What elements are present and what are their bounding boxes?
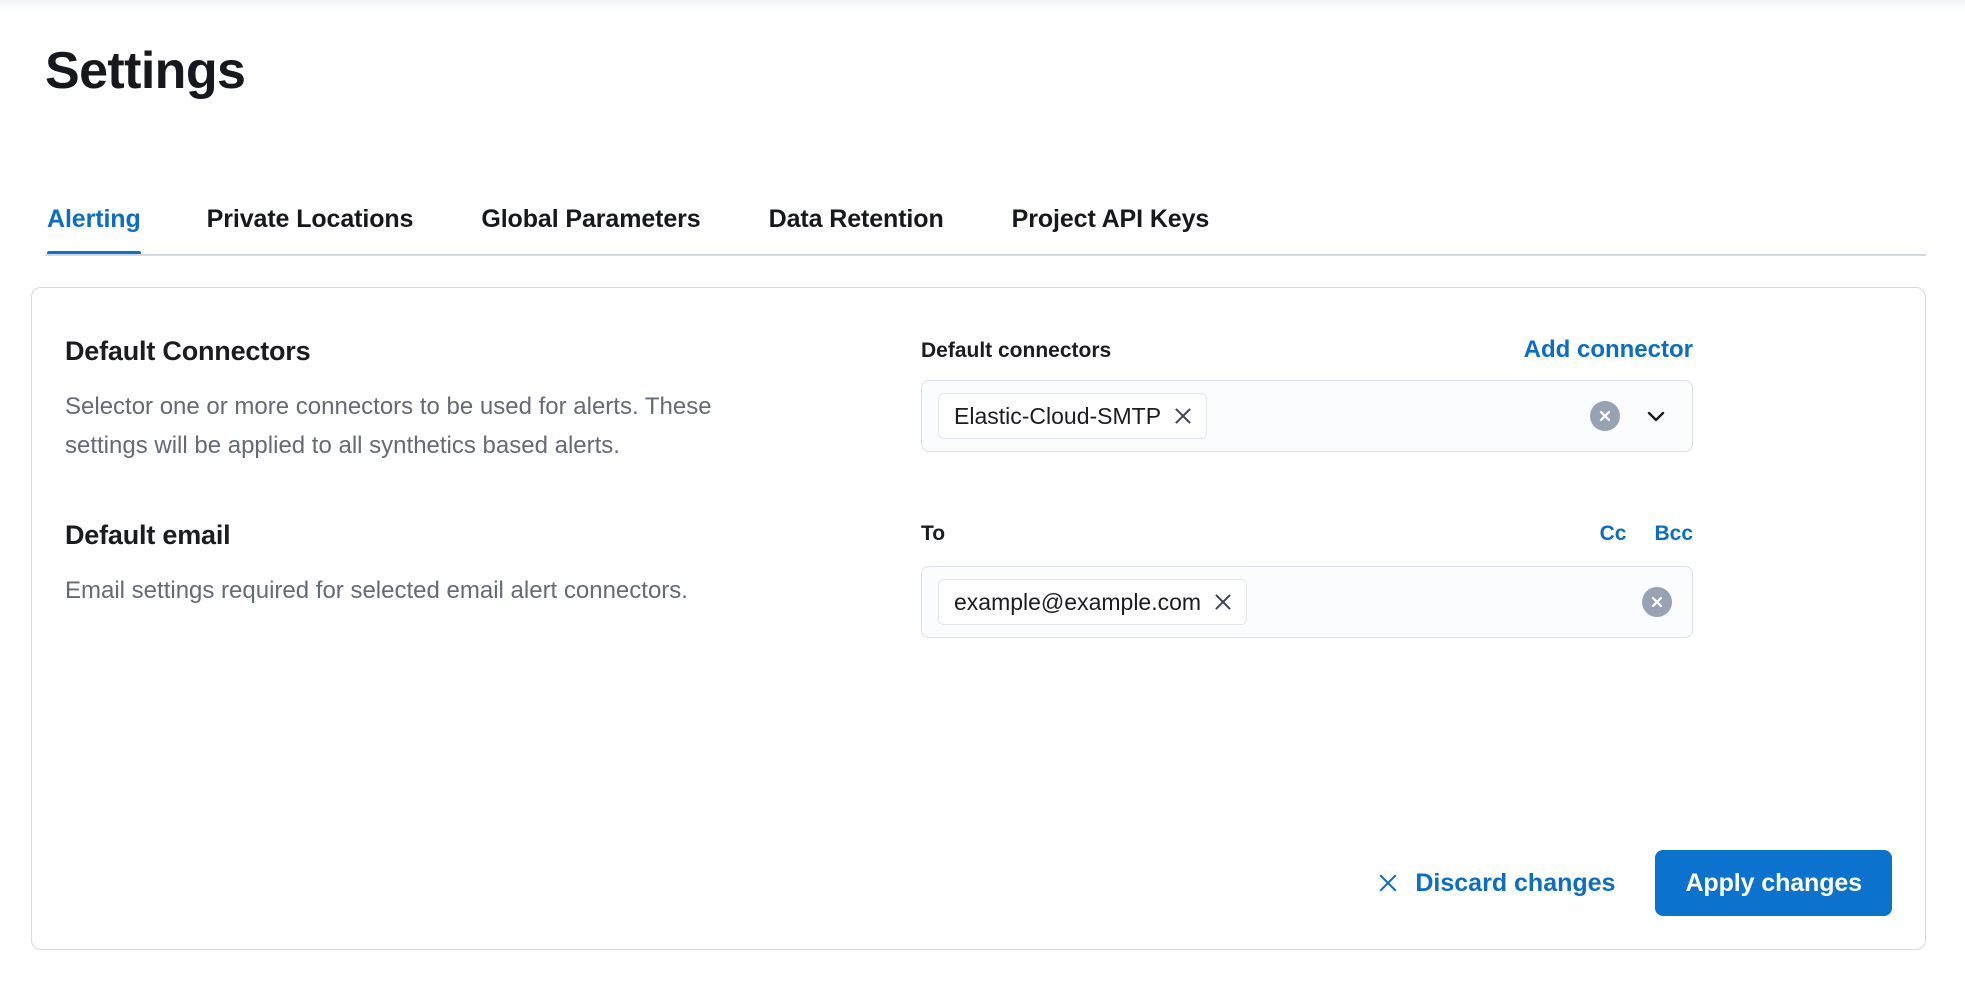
tabs-underline — [45, 254, 1926, 256]
default-connectors-label: Default connectors — [921, 339, 1111, 363]
connector-pill[interactable]: Elastic-Cloud-SMTP — [938, 393, 1207, 439]
default-connectors-combobox[interactable]: Elastic-Cloud-SMTP — [921, 380, 1693, 452]
default-connectors-field-header: Default connectors Add connector — [921, 336, 1693, 366]
settings-page: Settings Alerting Private Locations Glob… — [0, 0, 1965, 989]
remove-email-icon[interactable] — [1213, 592, 1233, 612]
tab-global-parameters-label: Global Parameters — [481, 205, 700, 234]
tab-private-locations[interactable]: Private Locations — [173, 182, 448, 256]
default-email-field-column: To Cc Bcc example@example.com — [921, 522, 1693, 638]
default-connectors-field-column: Default connectors Add connector Elastic… — [921, 336, 1693, 452]
alerting-settings-panel: Default Connectors Selector one or more … — [31, 287, 1926, 950]
add-connector-link[interactable]: Add connector — [1524, 336, 1693, 364]
apply-changes-button[interactable]: Apply changes — [1655, 850, 1892, 916]
chevron-down-icon[interactable] — [1640, 400, 1672, 432]
default-email-description: Email settings required for selected ema… — [65, 571, 795, 610]
tab-project-api-keys-label: Project API Keys — [1012, 205, 1210, 234]
clear-emails-icon[interactable] — [1642, 587, 1672, 617]
tab-private-locations-label: Private Locations — [207, 205, 414, 234]
tab-project-api-keys[interactable]: Project API Keys — [978, 182, 1244, 256]
settings-tabs: Alerting Private Locations Global Parame… — [45, 182, 1926, 256]
tab-data-retention-label: Data Retention — [769, 205, 944, 234]
discard-changes-label: Discard changes — [1415, 869, 1615, 898]
email-pill[interactable]: example@example.com — [938, 579, 1247, 625]
tab-data-retention[interactable]: Data Retention — [735, 182, 978, 256]
panel-actions: Discard changes Apply changes — [1363, 850, 1892, 916]
cc-link[interactable]: Cc — [1600, 522, 1627, 546]
tab-global-parameters[interactable]: Global Parameters — [447, 182, 734, 256]
bcc-link[interactable]: Bcc — [1654, 522, 1693, 546]
page-title: Settings — [45, 40, 245, 102]
default-connectors-description: Selector one or more connectors to be us… — [65, 387, 795, 465]
tab-alerting[interactable]: Alerting — [45, 182, 173, 256]
clear-connectors-icon[interactable] — [1590, 401, 1620, 431]
default-email-title: Default email — [65, 520, 825, 551]
to-email-combobox[interactable]: example@example.com — [921, 566, 1693, 638]
to-label: To — [921, 522, 945, 546]
default-email-description-column: Default email Email settings required fo… — [65, 520, 825, 610]
default-connectors-title: Default Connectors — [65, 336, 825, 367]
remove-connector-icon[interactable] — [1173, 406, 1193, 426]
close-icon — [1377, 872, 1399, 894]
top-gradient-strip — [0, 0, 1965, 14]
default-email-field-header: To Cc Bcc — [921, 522, 1693, 552]
connector-pill-label: Elastic-Cloud-SMTP — [954, 401, 1161, 431]
discard-changes-button[interactable]: Discard changes — [1363, 861, 1629, 906]
default-connectors-description-column: Default Connectors Selector one or more … — [65, 336, 825, 465]
tab-alerting-label: Alerting — [47, 205, 141, 234]
email-pill-label: example@example.com — [954, 587, 1201, 617]
